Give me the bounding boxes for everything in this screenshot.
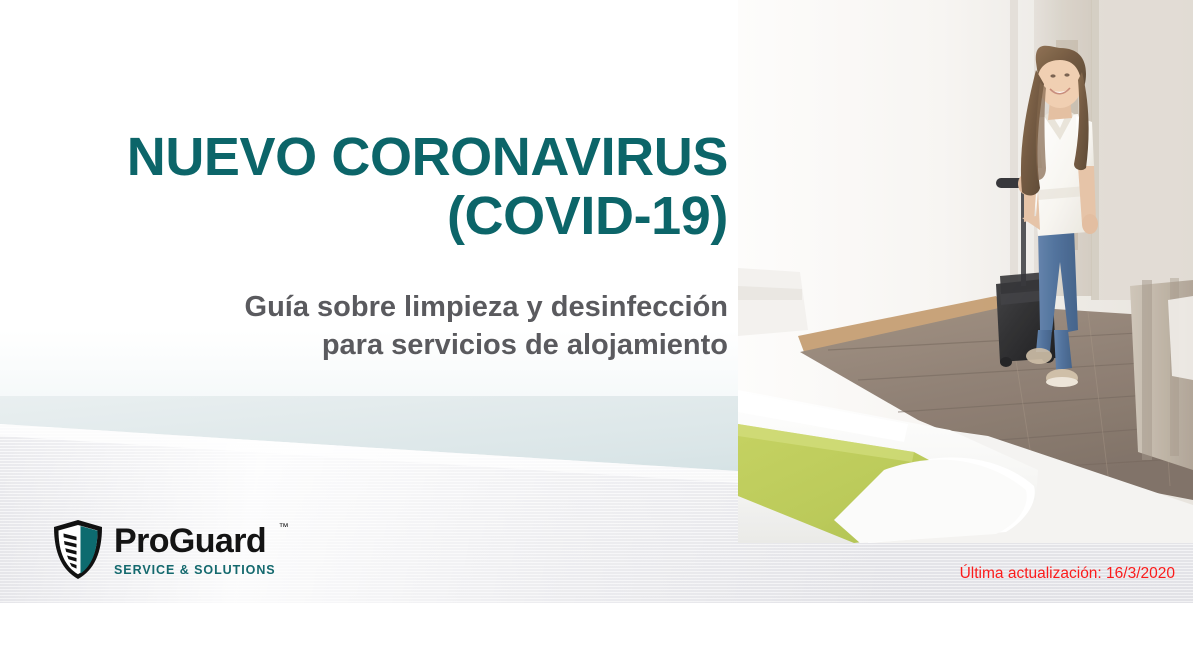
proguard-logo: ProGuard ™ SERVICE & SOLUTIONS (52, 519, 276, 581)
slide-title-line-1: NUEVO CORONAVIRUS (127, 127, 728, 187)
trademark-symbol: ™ (279, 522, 289, 533)
last-updated-stamp: Última actualización: 16/3/2020 (960, 565, 1175, 583)
slide-subtitle-line-1: Guía sobre limpieza y desinfección (245, 291, 728, 323)
slide-subtitle-line-2: para servicios de alojamiento (322, 329, 728, 361)
hotel-room-photo (738, 0, 1193, 543)
title-slide: NUEVO CORONAVIRUS (COVID-19) Guía sobre … (0, 0, 1193, 603)
title-text-block: NUEVO CORONAVIRUS (COVID-19) Guía sobre … (0, 128, 731, 364)
shield-icon (52, 519, 104, 581)
logo-tagline: SERVICE & SOLUTIONS (114, 563, 276, 577)
slide-title-line-2: (COVID-19) (447, 186, 728, 246)
logo-name: ProGuard (114, 524, 276, 558)
logo-wordmark: ProGuard ™ SERVICE & SOLUTIONS (114, 524, 276, 577)
slide-subtitle: Guía sobre limpieza y desinfección para … (0, 246, 728, 365)
slide-title: NUEVO CORONAVIRUS (COVID-19) (0, 128, 728, 246)
